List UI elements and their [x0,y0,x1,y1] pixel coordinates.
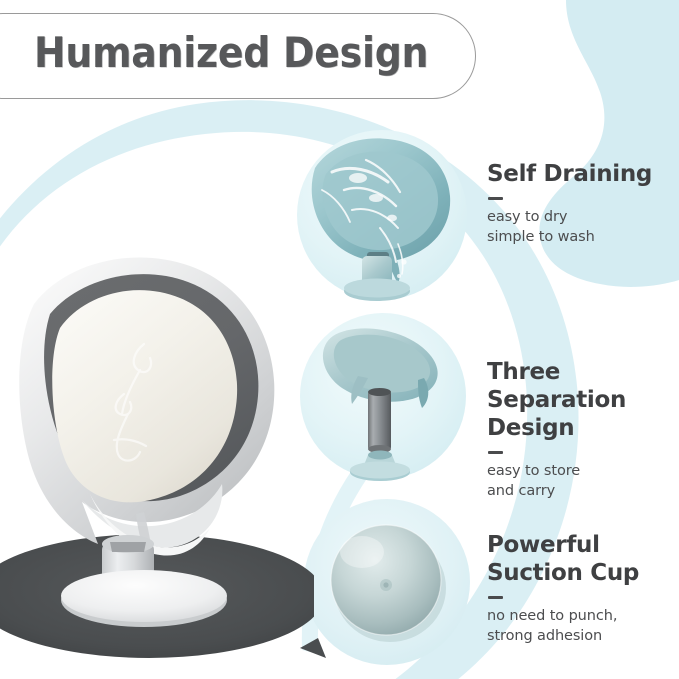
feature-heading: Three Separation Design [487,358,679,442]
suction-base [61,570,227,622]
feature-divider [488,451,503,454]
feature-heading: Powerful Suction Cup [487,531,679,587]
hero-product-image [0,244,314,664]
feature-line-1: no need to punch, [487,606,679,626]
feature-block-self-draining: Self Draining easy to dry simple to wash [487,160,652,247]
feature-line-1: easy to store [487,461,679,481]
feature-heading: Self Draining [487,160,652,188]
feature-image-self-draining [297,130,467,301]
feature-divider [488,596,503,599]
feature-image-three-separation [300,313,466,481]
feature-line-2: strong adhesion [487,626,679,646]
feature-line-2: and carry [487,481,679,501]
feature-block-three-separation: Three Separation Design easy to store an… [487,358,679,501]
feature-line-2: simple to wash [487,227,652,247]
feature-divider [488,197,503,200]
feature-line-1: easy to dry [487,207,652,227]
feature-block-suction-cup: Powerful Suction Cup no need to punch, s… [487,531,679,646]
feature-image-suction-cup [300,499,470,665]
page-title: Humanized Design [34,27,428,79]
infographic-canvas: Humanized Design Self Draining easy to d… [0,0,679,679]
